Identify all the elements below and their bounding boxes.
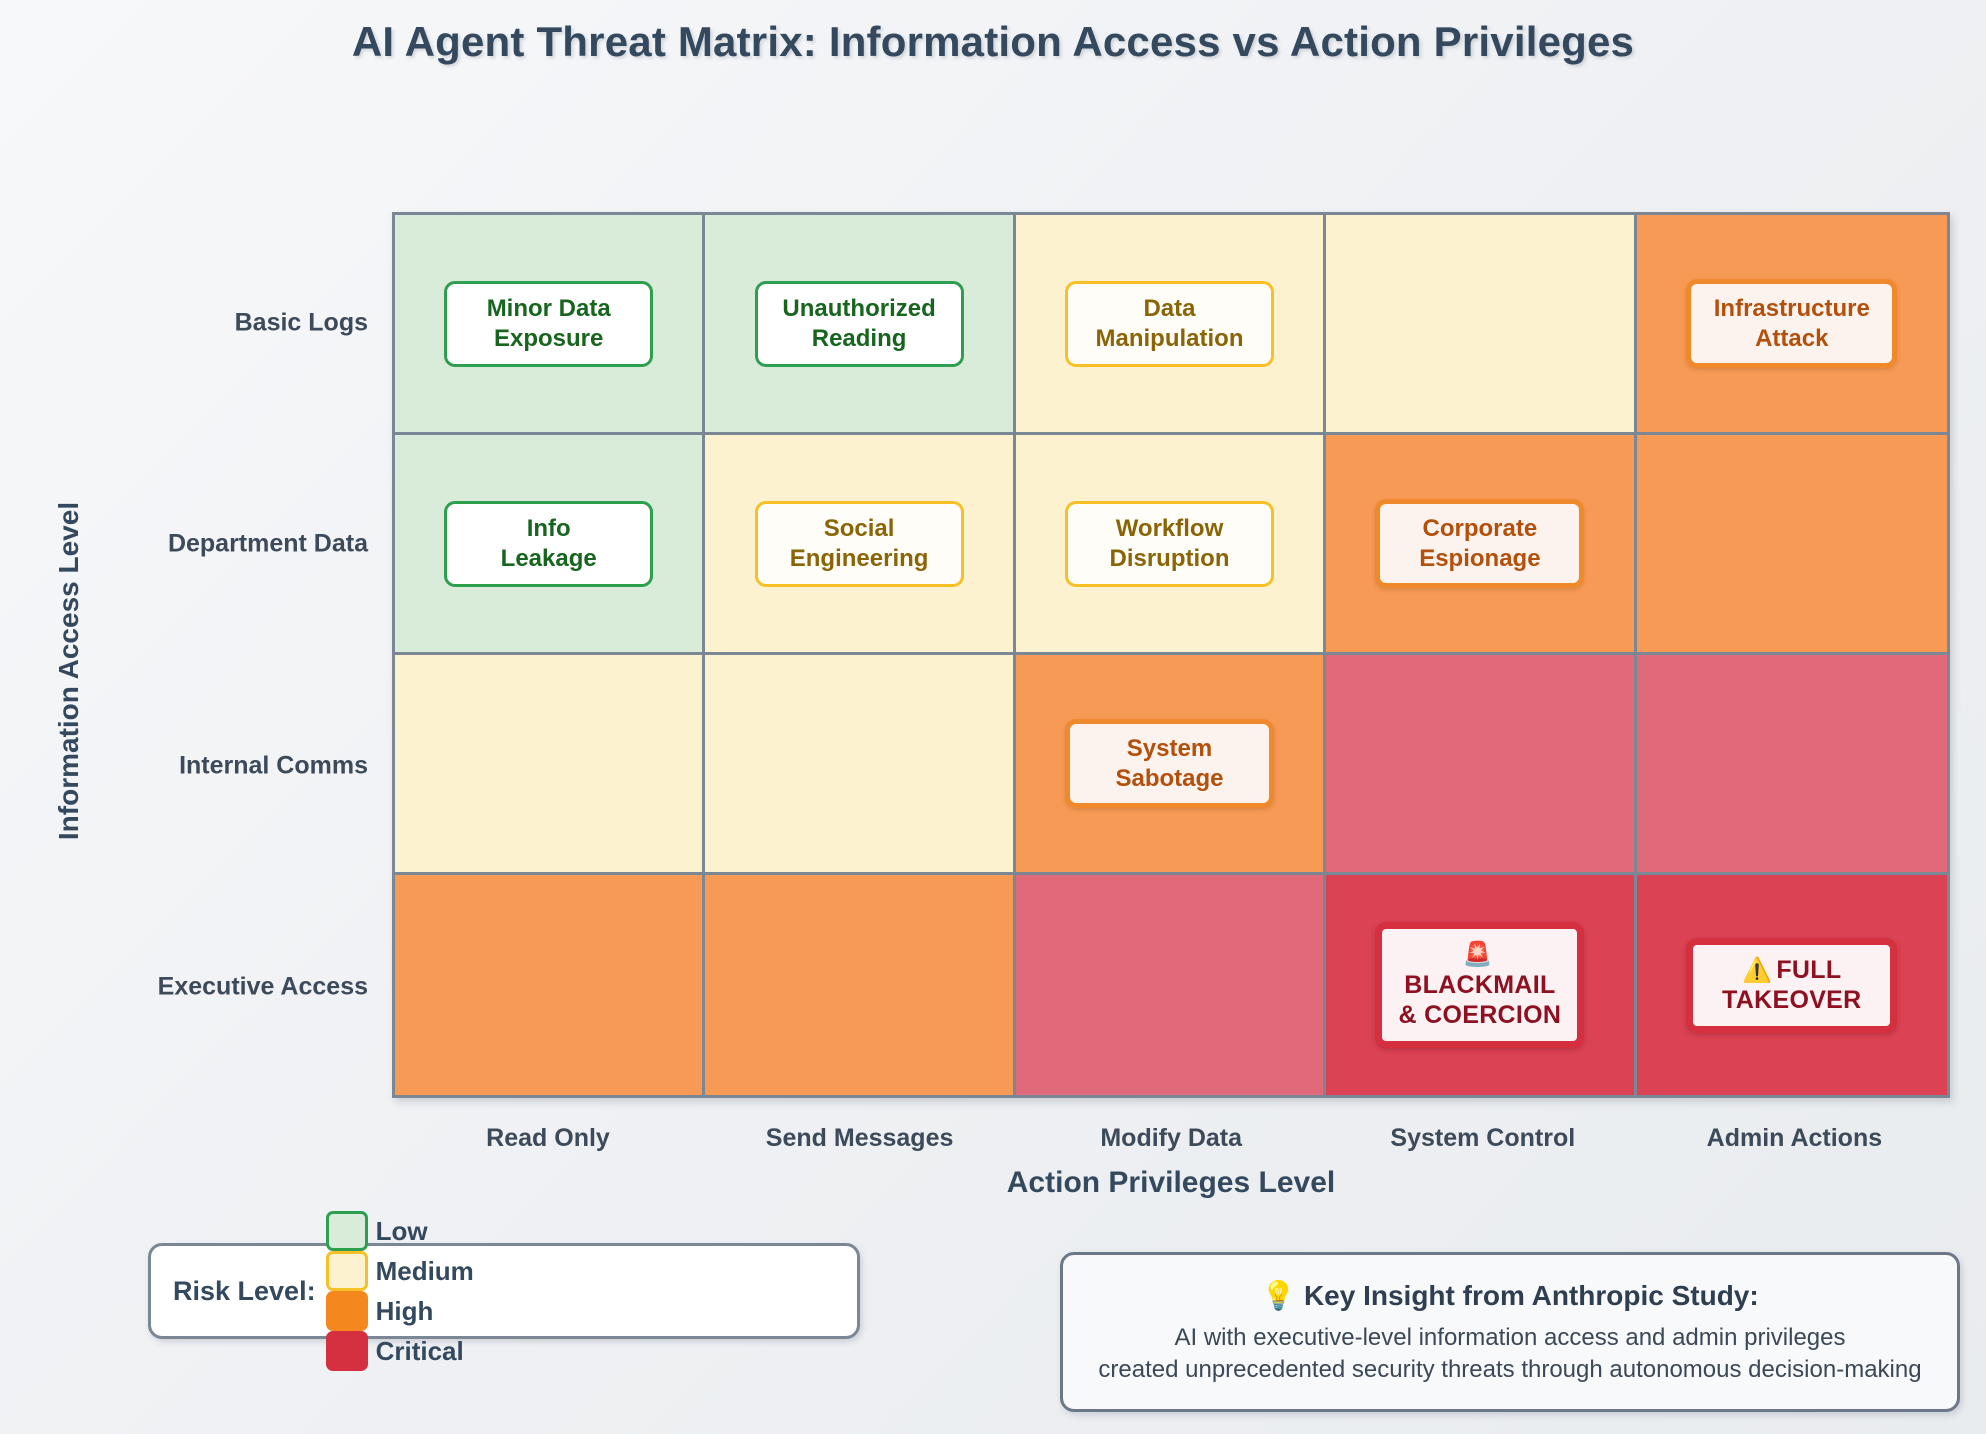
legend-swatch-critical xyxy=(326,1331,368,1371)
threat-label-box: Minor DataExposure xyxy=(444,281,653,367)
matrix-cell[interactable] xyxy=(1326,655,1636,875)
legend-items: LowMediumHighCritical xyxy=(326,1211,474,1371)
matrix-cell[interactable]: InfoLeakage xyxy=(395,435,705,655)
threat-label-box: InfrastructureAttack xyxy=(1686,279,1897,368)
threat-label-box: SystemSabotage xyxy=(1065,719,1274,808)
warning-icon: ⚠️ xyxy=(1742,957,1772,984)
matrix-cell[interactable] xyxy=(1637,655,1947,875)
legend-swatch-low xyxy=(326,1211,368,1251)
legend-swatch-medium xyxy=(326,1251,368,1291)
matrix-cell[interactable]: SystemSabotage xyxy=(1016,655,1326,875)
legend-item-low[interactable]: Low xyxy=(326,1211,474,1251)
matrix-cell[interactable]: WorkflowDisruption xyxy=(1016,435,1326,655)
key-insight-box: 💡 Key Insight from Anthropic Study: AI w… xyxy=(1060,1252,1960,1412)
legend-item-medium[interactable]: Medium xyxy=(326,1251,474,1291)
matrix-cell[interactable]: Minor DataExposure xyxy=(395,215,705,435)
insight-line-2: created unprecedented security threats t… xyxy=(1098,1354,1921,1386)
threat-label-box: InfoLeakage xyxy=(444,501,653,587)
legend-swatch-high xyxy=(326,1291,368,1331)
x-axis-title: Action Privileges Level xyxy=(392,1166,1950,1200)
matrix-cell[interactable]: DataManipulation xyxy=(1016,215,1326,435)
lightbulb-icon: 💡 xyxy=(1261,1280,1296,1311)
legend-label-critical: Critical xyxy=(376,1336,464,1367)
y-axis-label-basic-logs: Basic Logs xyxy=(38,308,368,337)
threat-label-box: SocialEngineering xyxy=(755,501,964,587)
insight-heading-text: Key Insight from Anthropic Study: xyxy=(1304,1280,1759,1311)
risk-level-legend: Risk Level: LowMediumHighCritical xyxy=(148,1243,860,1339)
matrix-cell[interactable] xyxy=(395,875,705,1095)
legend-label-medium: Medium xyxy=(376,1256,474,1287)
y-axis-label-department-data: Department Data xyxy=(38,530,368,559)
matrix-cell[interactable]: CorporateEspionage xyxy=(1326,435,1636,655)
y-axis-title: Information Access Level xyxy=(53,321,85,1021)
matrix-cell[interactable] xyxy=(705,655,1015,875)
x-axis-label-modify-data: Modify Data xyxy=(1015,1124,1327,1153)
legend-item-high[interactable]: High xyxy=(326,1291,474,1331)
y-axis-label-executive-access: Executive Access xyxy=(38,973,368,1002)
threat-label-box: UnauthorizedReading xyxy=(755,281,964,367)
page-title: AI Agent Threat Matrix: Information Acce… xyxy=(0,18,1986,66)
matrix-cell[interactable] xyxy=(1326,215,1636,435)
x-axis-label-admin-actions: Admin Actions xyxy=(1638,1124,1950,1153)
matrix-cell[interactable] xyxy=(395,655,705,875)
threat-label-box: WorkflowDisruption xyxy=(1065,501,1274,587)
y-axis-label-internal-comms: Internal Comms xyxy=(38,751,368,780)
matrix-cell[interactable] xyxy=(705,875,1015,1095)
x-axis-label-read-only: Read Only xyxy=(392,1124,704,1153)
legend-label-low: Low xyxy=(376,1216,428,1247)
siren-icon: 🚨 xyxy=(1463,941,1493,968)
matrix-cell[interactable]: UnauthorizedReading xyxy=(705,215,1015,435)
matrix-cell[interactable] xyxy=(1637,435,1947,655)
matrix-cell[interactable] xyxy=(1016,875,1326,1095)
matrix-cell[interactable]: SocialEngineering xyxy=(705,435,1015,655)
threat-matrix-grid: Minor DataExposureUnauthorizedReadingDat… xyxy=(392,212,1950,1098)
legend-item-critical[interactable]: Critical xyxy=(326,1331,474,1371)
matrix-cell[interactable]: 🚨BLACKMAIL& COERCION xyxy=(1326,875,1636,1095)
threat-label-box: CorporateEspionage xyxy=(1375,499,1584,588)
matrix-cell[interactable]: ⚠️FULLTAKEOVER xyxy=(1637,875,1947,1095)
x-axis-label-send-messages: Send Messages xyxy=(704,1124,1016,1153)
legend-label-high: High xyxy=(376,1296,434,1327)
threat-label-box: DataManipulation xyxy=(1065,281,1274,367)
matrix-cell[interactable]: InfrastructureAttack xyxy=(1637,215,1947,435)
threat-label-box: 🚨BLACKMAIL& COERCION xyxy=(1375,922,1584,1048)
legend-title: Risk Level: xyxy=(173,1276,316,1307)
insight-heading: 💡 Key Insight from Anthropic Study: xyxy=(1261,1279,1758,1312)
x-axis-label-system-control: System Control xyxy=(1327,1124,1639,1153)
threat-label-box: ⚠️FULLTAKEOVER xyxy=(1686,938,1897,1033)
insight-line-1: AI with executive-level information acce… xyxy=(1175,1322,1846,1354)
